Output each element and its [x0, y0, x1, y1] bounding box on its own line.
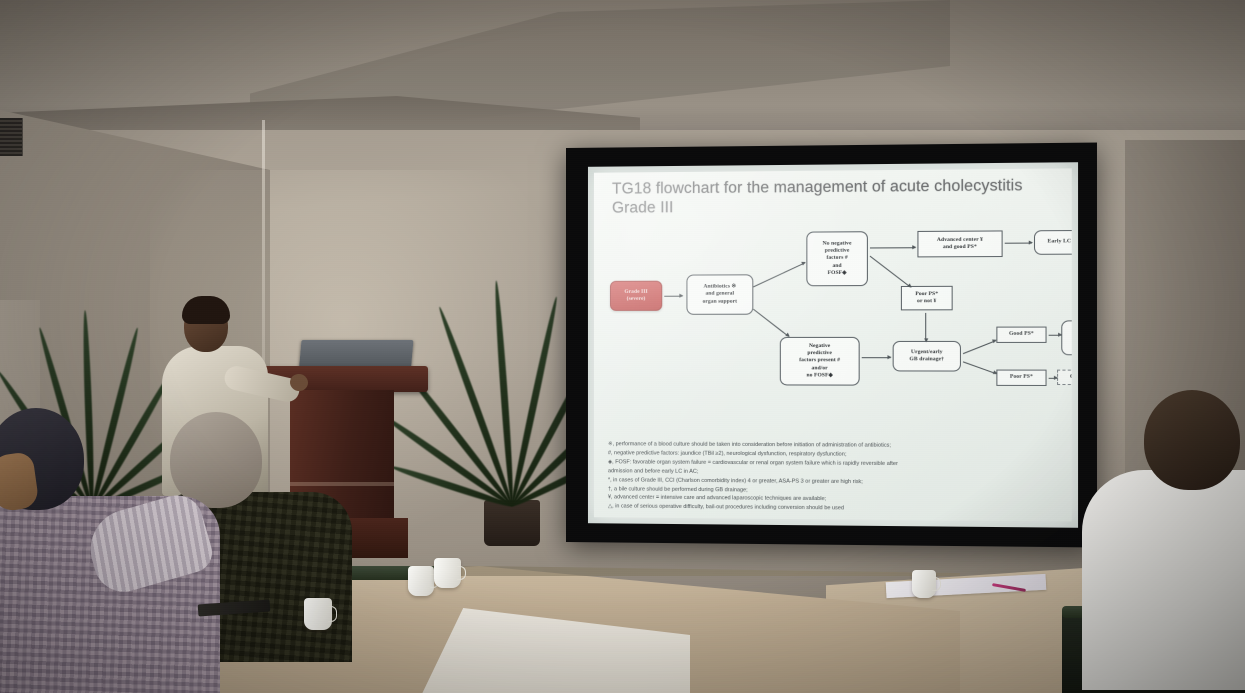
- flow-node-early-lc: Early LC △: [1034, 230, 1072, 255]
- slide-footnotes: ※, performance of a blood culture should…: [608, 441, 1063, 516]
- flow-arrow-antibiotics-negpresent: [753, 309, 789, 337]
- flow-node-observation: Observation: [1057, 370, 1072, 386]
- flow-arrow-noneg-poorps: [870, 256, 911, 288]
- audience-member-right: [1086, 404, 1245, 693]
- flow-arrow-poorps-gbdrain: [925, 313, 926, 342]
- audience-head: [1144, 390, 1240, 490]
- flow-arrow-advcenter-earlylc: [1005, 243, 1032, 244]
- flow-node-negative-factors-present: Negative predictive factors present # an…: [780, 337, 860, 386]
- coffee-cup: [434, 558, 461, 588]
- flow-node-antibiotics: Antibiotics ※ and general organ support: [686, 274, 753, 314]
- audience-member-left: [0, 408, 232, 693]
- flow-node-good-ps: Good PS*: [996, 327, 1046, 343]
- flow-arrow-goodps-delayedlc: [1049, 335, 1062, 336]
- slide-title-line2: Grade III: [612, 196, 1061, 218]
- flow-node-advanced-center: Advanced center ¥ and good PS*: [917, 230, 1002, 257]
- audience-body: [1082, 470, 1245, 690]
- flow-node-poor-ps-1: Poor PS* or not ¥: [901, 286, 953, 311]
- coffee-cup: [912, 570, 936, 598]
- flow-node-delayed-lc: Delayed/ elective LC△: [1061, 320, 1072, 355]
- flow-arrow-gbdrain-poorps2: [963, 361, 997, 374]
- projection-screen-frame: TG18 flowchart for the management of acu…: [566, 143, 1097, 548]
- plant-pot: [484, 500, 540, 546]
- flow-arrow-gbdrain-goodps: [963, 340, 996, 354]
- air-vent-icon: [0, 118, 23, 156]
- presentation-slide: TG18 flowchart for the management of acu…: [594, 168, 1072, 521]
- slide-title-line1: TG18 flowchart for the management of acu…: [612, 177, 1061, 200]
- slide-title: TG18 flowchart for the management of acu…: [612, 177, 1061, 219]
- potted-palm-center: [452, 206, 572, 546]
- coffee-cup: [304, 598, 332, 630]
- flow-node-grade3: Grade III (severe): [610, 281, 662, 311]
- flow-node-poor-ps-2: Poor PS*: [996, 370, 1046, 386]
- flow-arrow-grade3-antibiotics: [664, 296, 682, 297]
- flowchart: Grade III (severe) Antibiotics ※ and gen…: [594, 226, 1072, 419]
- projection-screen: TG18 flowchart for the management of acu…: [588, 162, 1078, 528]
- palm-frond: [509, 296, 560, 507]
- flow-arrow-antibiotics-noneg: [753, 262, 805, 287]
- conference-room-scene: TG18 flowchart for the management of acu…: [0, 0, 1245, 693]
- coffee-cup: [408, 566, 434, 596]
- flow-arrow-noneg-advcenter: [870, 247, 915, 248]
- presenter-hair: [182, 296, 230, 324]
- flow-node-gb-drainage: Urgent/early GB drainage†: [893, 341, 961, 372]
- flow-arrow-poorps2-observation: [1049, 378, 1057, 379]
- flow-arrow-negpresent-gbdrain: [862, 357, 891, 358]
- flow-node-no-negative-factors: No negative predictive factors # and FOS…: [806, 231, 868, 286]
